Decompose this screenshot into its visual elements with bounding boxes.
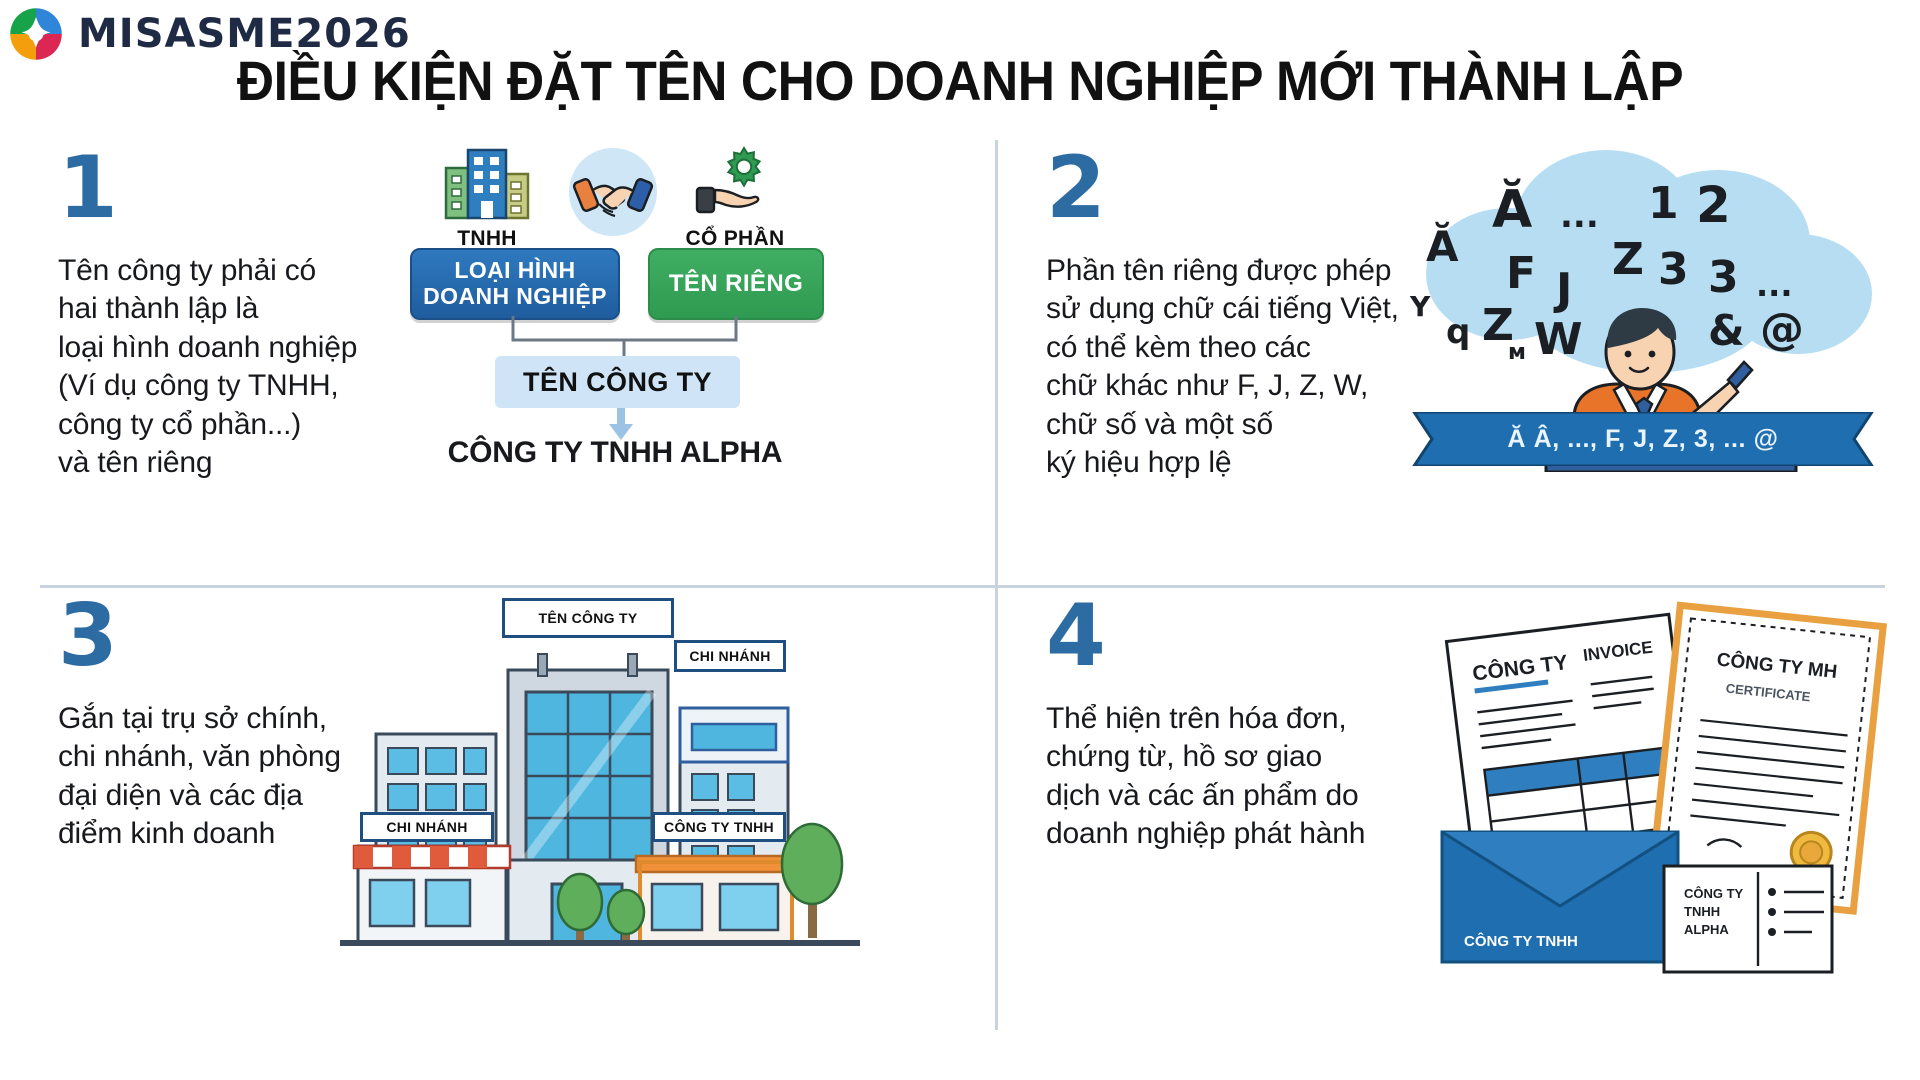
diagram-box-ten-rieng[interactable]: TÊN RIÊNG (648, 248, 824, 320)
section-2-text: Phần tên riêng được phép sử dụng chữ cái… (1046, 252, 1446, 482)
diagram-box-ten-cong-ty[interactable]: TÊN CÔNG TY (495, 356, 740, 408)
diagram-icon-handshake (548, 144, 678, 245)
cloud-letter: 1 (1648, 178, 1679, 229)
svg-text:CÔNG TY TNHH: CÔNG TY TNHH (1464, 932, 1578, 950)
sign-label: CHI NHÁNH (386, 819, 467, 835)
section-4-number: 4 (1046, 598, 1106, 675)
section-3-number: 3 (58, 598, 118, 675)
section-3-illustration: TÊN CÔNG TY CHI NHÁNH CHI NHÁNH CÔNG TY … (340, 584, 860, 984)
diagram-icon-co-phan: CỔ PHẦN (670, 146, 800, 251)
misa-logo-icon (8, 6, 64, 62)
cloud-letter: 3 (1658, 244, 1689, 295)
diagram-result-label: CÔNG TY TNHH ALPHA (390, 436, 840, 470)
section-1-diagram: TNHH (400, 140, 830, 480)
section-2: 2 Phần tên riêng được phép sử dụng chữ c… (995, 140, 1885, 585)
sign-chi-nhanh-right: CHI NHÁNH (674, 640, 786, 672)
sign-label: TÊN CÔNG TY (539, 610, 638, 626)
office-buildings-icon (444, 207, 530, 224)
diagram-icon-row: TNHH (400, 146, 830, 246)
cloud-letter: Ă (1492, 180, 1532, 240)
section-3: 3 Gắn tại trụ sở chính, chi nhánh, văn p… (40, 585, 995, 1030)
section-2-banner-label: Ă Â, ..., F, J, Z, 3, ... @ (1408, 412, 1878, 466)
diagram-icon-tnhh: TNHH (422, 146, 552, 251)
section-4-illustration: CÔNG TY INVOICE (1428, 580, 1908, 980)
diagram-box-light-label: TÊN CÔNG TY (523, 367, 712, 397)
cloud-letter: q (1446, 312, 1470, 352)
cloud-letter: Ă (1426, 222, 1459, 271)
diagram-box-green-label: TÊN RIÊNG (669, 271, 803, 298)
section-4: 4 Thể hiện trên hóa đơn, chứng từ, hồ sơ… (995, 585, 1885, 1030)
gear-in-hand-icon (689, 207, 781, 224)
sign-label: CHI NHÁNH (689, 648, 770, 664)
svg-text:ALPHA: ALPHA (1684, 922, 1729, 937)
sign-chi-nhanh-left: CHI NHÁNH (360, 812, 494, 842)
handshake-icon (565, 227, 661, 244)
cloud-letter: 2 (1696, 176, 1731, 234)
sign-ten-cong-ty: TÊN CÔNG TY (502, 598, 674, 638)
cloud-letter: Z (1612, 234, 1644, 285)
section-2-number: 2 (1046, 150, 1106, 227)
sign-label: CÔNG TY TNHH (664, 819, 774, 835)
sign-cong-ty-tnhh: CÔNG TY TNHH (652, 812, 786, 842)
section-1: 1 Tên công ty phải có hai thành lập là l… (40, 140, 995, 585)
diagram-box-blue-label: LOẠI HÌNH DOANH NGHIỆP (423, 258, 607, 310)
svg-text:TNHH: TNHH (1684, 904, 1720, 919)
cloud-letter: ... (1560, 196, 1599, 236)
section-2-illustration: Ă Ă ... 1 2 F J Z 3 3 ... Y q Z (1408, 134, 1878, 514)
section-4-text: Thể hiện trên hóa đơn, chứng từ, hồ sơ g… (1046, 700, 1446, 854)
section-1-number: 1 (58, 150, 118, 227)
infographic-page: MISASME2026 ĐIỀU KIỆN ĐẶT TÊN CHO DOANH … (0, 0, 1920, 1080)
sections-grid: 1 Tên công ty phải có hai thành lập là l… (40, 140, 1885, 1060)
documents-stack-icon: CÔNG TY INVOICE (1428, 580, 1908, 980)
page-title: ĐIỀU KIỆN ĐẶT TÊN CHO DOANH NGHIỆP MỚI T… (77, 48, 1843, 113)
diagram-box-loai-hinh-doanh-nghiep[interactable]: LOẠI HÌNH DOANH NGHIỆP (410, 248, 620, 320)
svg-text:CÔNG TY: CÔNG TY (1684, 886, 1744, 901)
cloud-letter: Y (1410, 290, 1430, 323)
